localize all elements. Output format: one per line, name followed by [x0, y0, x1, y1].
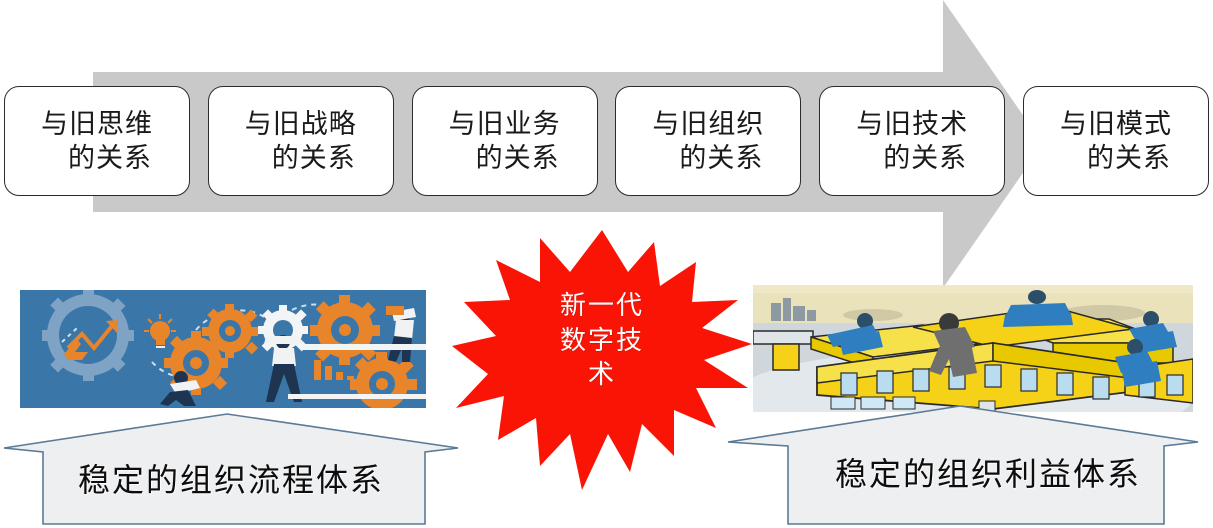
stage-box-line2: 的关系 — [653, 141, 763, 175]
gears-teamwork-illustration — [20, 290, 426, 408]
stage-box-line1: 与旧技术 — [856, 107, 968, 141]
stage-box-old-thinking[interactable]: 与旧思维 的关系 — [4, 86, 190, 196]
stage-box-row: 与旧思维 的关系 与旧战略 的关系 与旧业务 的关系 与旧组织 的关系 与旧技术… — [4, 86, 1209, 196]
new-generation-digital-technology-burst[interactable] — [452, 228, 752, 496]
stage-box-old-model[interactable]: 与旧模式 的关系 — [1023, 86, 1209, 196]
yellow-building-artwork — [753, 285, 1193, 412]
stage-box-old-business[interactable]: 与旧业务 的关系 — [412, 86, 598, 196]
slide-canvas: 与旧思维 的关系 与旧战略 的关系 与旧业务 的关系 与旧组织 的关系 与旧技术… — [0, 0, 1213, 528]
stage-box-old-technology[interactable]: 与旧技术 的关系 — [819, 86, 1005, 196]
stage-box-line2: 的关系 — [1061, 141, 1171, 175]
stage-box-line1: 与旧组织 — [652, 107, 764, 141]
stage-box-line2: 的关系 — [246, 141, 356, 175]
stable-process-system-label: 稳定的组织流程体系 — [40, 455, 422, 501]
stage-box-old-strategy[interactable]: 与旧战略 的关系 — [208, 86, 394, 196]
stage-box-line1: 与旧思维 — [41, 107, 153, 141]
yellow-building-blocks-illustration — [753, 285, 1193, 412]
stage-box-line1: 与旧战略 — [245, 107, 357, 141]
stage-box-line2: 的关系 — [450, 141, 560, 175]
stage-box-line2: 的关系 — [857, 141, 967, 175]
stage-box-line1: 与旧模式 — [1060, 107, 1172, 141]
gears-teamwork-artwork — [20, 290, 426, 408]
stage-box-line2: 的关系 — [42, 141, 152, 175]
stable-interest-system-label: 稳定的组织利益体系 — [788, 449, 1188, 495]
stage-box-line1: 与旧业务 — [449, 107, 561, 141]
stage-box-old-organization[interactable]: 与旧组织 的关系 — [615, 86, 801, 196]
